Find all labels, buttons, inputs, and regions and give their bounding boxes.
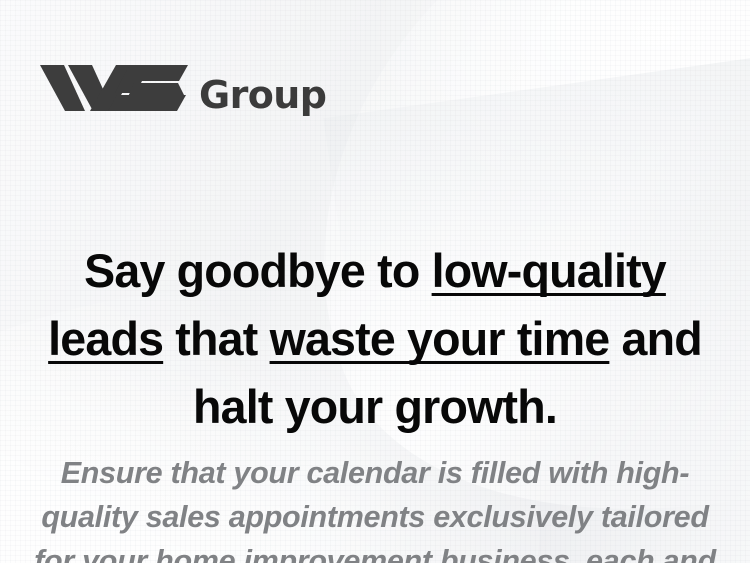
subheadline-line-2: quality sales appointments exclusively t… [0, 495, 750, 539]
headline-text-underlined: leads [48, 312, 163, 365]
headline-line-3: halt your growth. [4, 373, 747, 441]
headline-text-plain: Say goodbye to [84, 244, 431, 297]
landing-page: Group Say goodbye to low-quality leads t… [0, 0, 750, 563]
headline-text-plain: halt your growth. [193, 380, 557, 433]
headline-text-plain: that [163, 312, 269, 365]
brand-logo[interactable]: Group [38, 55, 326, 121]
headline-text-underlined: waste your time [270, 312, 610, 365]
brand-wordmark: Group [199, 76, 326, 114]
vs-monogram-icon [38, 59, 198, 117]
headline-text-plain: and [609, 312, 701, 365]
headline-text-underlined: low-quality [432, 244, 666, 297]
headline-line-2: leads that waste your time and [4, 305, 747, 373]
page-headline: Say goodbye to low-quality leads that wa… [4, 237, 747, 441]
page-subheadline: Ensure that your calendar is filled with… [0, 451, 750, 563]
page-content: Group Say goodbye to low-quality leads t… [0, 0, 750, 563]
headline-line-1: Say goodbye to low-quality [4, 237, 747, 305]
subheadline-line-1: Ensure that your calendar is filled with… [0, 451, 750, 495]
subheadline-line-3: for your home improvement business, each… [0, 539, 750, 563]
